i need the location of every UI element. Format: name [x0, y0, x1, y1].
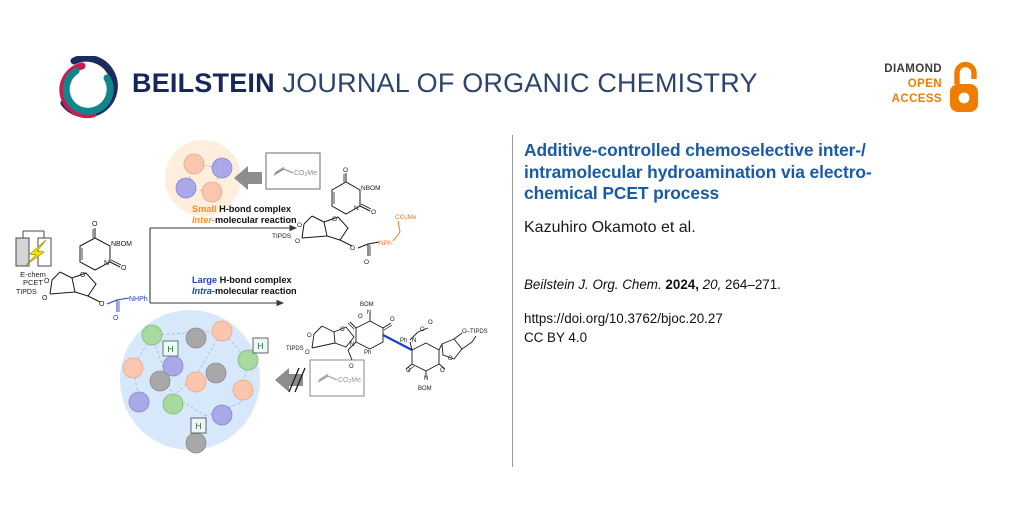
- svg-text:O: O: [80, 272, 86, 279]
- svg-text:O: O: [305, 350, 310, 356]
- svg-text:O: O: [113, 315, 119, 322]
- title-line-1: Additive-controlled chemoselective inter…: [524, 140, 866, 160]
- oa-open-label: OPEN: [872, 77, 942, 92]
- svg-text:O: O: [428, 320, 433, 326]
- svg-text:O: O: [349, 364, 354, 370]
- title-line-3: chemical PCET process: [524, 183, 719, 203]
- citation-pages: 264–271.: [725, 277, 781, 292]
- svg-text:Ph: Ph: [364, 350, 371, 356]
- svg-text:O: O: [295, 238, 300, 245]
- article-info-panel: Additive-controlled chemoselective inter…: [524, 140, 984, 347]
- svg-text:O: O: [332, 216, 337, 223]
- article-license: CC BY 4.0: [524, 328, 984, 347]
- svg-text:Large H-bond complex: Large H-bond complex: [192, 275, 292, 285]
- svg-text:N: N: [104, 260, 109, 267]
- oa-diamond-label: DIAMOND: [872, 62, 942, 77]
- svg-text:NPh: NPh: [379, 240, 392, 247]
- hydrogen-tag-3: H: [191, 418, 206, 433]
- svg-text:NHPh: NHPh: [129, 296, 148, 303]
- svg-text:H: H: [167, 344, 173, 354]
- svg-text:BOM: BOM: [418, 386, 432, 392]
- reagent-box-top: CO2Me: [266, 153, 320, 189]
- svg-text:NBOM: NBOM: [111, 241, 132, 248]
- masthead-bold: BEILSTEIN: [132, 68, 275, 98]
- column-divider: [512, 135, 513, 467]
- svg-text:N: N: [412, 338, 416, 344]
- reagent-bottom-label: CO2Me: [338, 377, 361, 385]
- svg-text:O: O: [121, 265, 127, 272]
- reagent-top-label: CO2Me: [294, 170, 317, 178]
- blocked-reaction-arrow: [275, 368, 305, 392]
- svg-text:O: O: [350, 245, 355, 252]
- svg-text:O: O: [307, 333, 312, 339]
- svg-text:Intra-molecular reaction: Intra-molecular reaction: [192, 286, 297, 296]
- graphical-abstract: CO2Me Small H-bond complex Inter-molecul…: [0, 128, 505, 468]
- svg-text:Inter-molecular reaction: Inter-molecular reaction: [192, 215, 297, 225]
- bottom-pathway-label: Large H-bond complex Intra-molecular rea…: [192, 275, 297, 296]
- svg-text:O: O: [448, 356, 453, 362]
- page-root: BEILSTEIN JOURNAL OF ORGANIC CHEMISTRY D…: [0, 0, 1024, 512]
- svg-text:H: H: [257, 341, 263, 351]
- svg-text:N: N: [367, 310, 371, 316]
- svg-text:O: O: [92, 221, 98, 228]
- svg-text:TIPDS: TIPDS: [16, 289, 37, 296]
- svg-text:O: O: [343, 167, 348, 174]
- article-citation: Beilstein J. Org. Chem. 2024, 20, 264–27…: [524, 277, 984, 292]
- svg-text:CO2Me: CO2Me: [395, 214, 417, 221]
- svg-text:O–TIPDS: O–TIPDS: [462, 329, 488, 335]
- beilstein-swirl-logo-icon: [52, 56, 120, 124]
- hydrogen-tag-1: H: [163, 341, 178, 356]
- svg-text:O: O: [297, 222, 302, 229]
- svg-text:O: O: [99, 301, 105, 308]
- svg-text:NBOM: NBOM: [361, 185, 381, 192]
- svg-text:BOM: BOM: [360, 302, 374, 308]
- svg-text:N: N: [354, 205, 359, 212]
- svg-text:Ph: Ph: [400, 338, 407, 344]
- diamond-open-access-badge: DIAMOND OPEN ACCESS: [872, 60, 984, 122]
- echem-label-2: PCET: [23, 278, 43, 287]
- reagent-box-bottom: CO2Me: [310, 360, 364, 396]
- citation-volume: 20,: [703, 277, 722, 292]
- open-access-text: DIAMOND OPEN ACCESS: [872, 62, 942, 107]
- open-padlock-icon: [948, 60, 986, 116]
- svg-text:O: O: [364, 259, 369, 266]
- svg-text:O: O: [340, 327, 345, 333]
- article-doi-link[interactable]: https://doi.org/10.3762/bjoc.20.27: [524, 309, 984, 328]
- svg-text:TIPDS: TIPDS: [286, 346, 304, 352]
- article-authors: Kazuhiro Okamoto et al.: [524, 219, 984, 237]
- svg-text:O: O: [390, 317, 395, 323]
- page-header: BEILSTEIN JOURNAL OF ORGANIC CHEMISTRY D…: [0, 0, 1024, 140]
- article-title: Additive-controlled chemoselective inter…: [524, 140, 984, 205]
- svg-text:H: H: [195, 421, 201, 431]
- title-line-2: intramolecular hydroamination via electr…: [524, 162, 872, 182]
- svg-text:TIPDS: TIPDS: [272, 233, 292, 240]
- citation-year: 2024,: [665, 277, 699, 292]
- masthead-light: JOURNAL OF ORGANIC CHEMISTRY: [283, 68, 758, 98]
- svg-text:O: O: [44, 278, 50, 285]
- hydrogen-tag-2: H: [253, 338, 268, 353]
- svg-text:Small H-bond complex: Small H-bond complex: [192, 204, 292, 214]
- oa-access-label: ACCESS: [872, 92, 942, 107]
- citation-journal: Beilstein J. Org. Chem.: [524, 277, 662, 292]
- top-pathway-label: Small H-bond complex Inter-molecular rea…: [192, 204, 297, 225]
- svg-text:O: O: [42, 295, 48, 302]
- svg-text:O: O: [358, 314, 363, 320]
- masthead: BEILSTEIN JOURNAL OF ORGANIC CHEMISTRY: [132, 68, 758, 99]
- svg-text:O: O: [371, 209, 376, 216]
- large-hbond-complex-diagram: H H H: [120, 310, 268, 453]
